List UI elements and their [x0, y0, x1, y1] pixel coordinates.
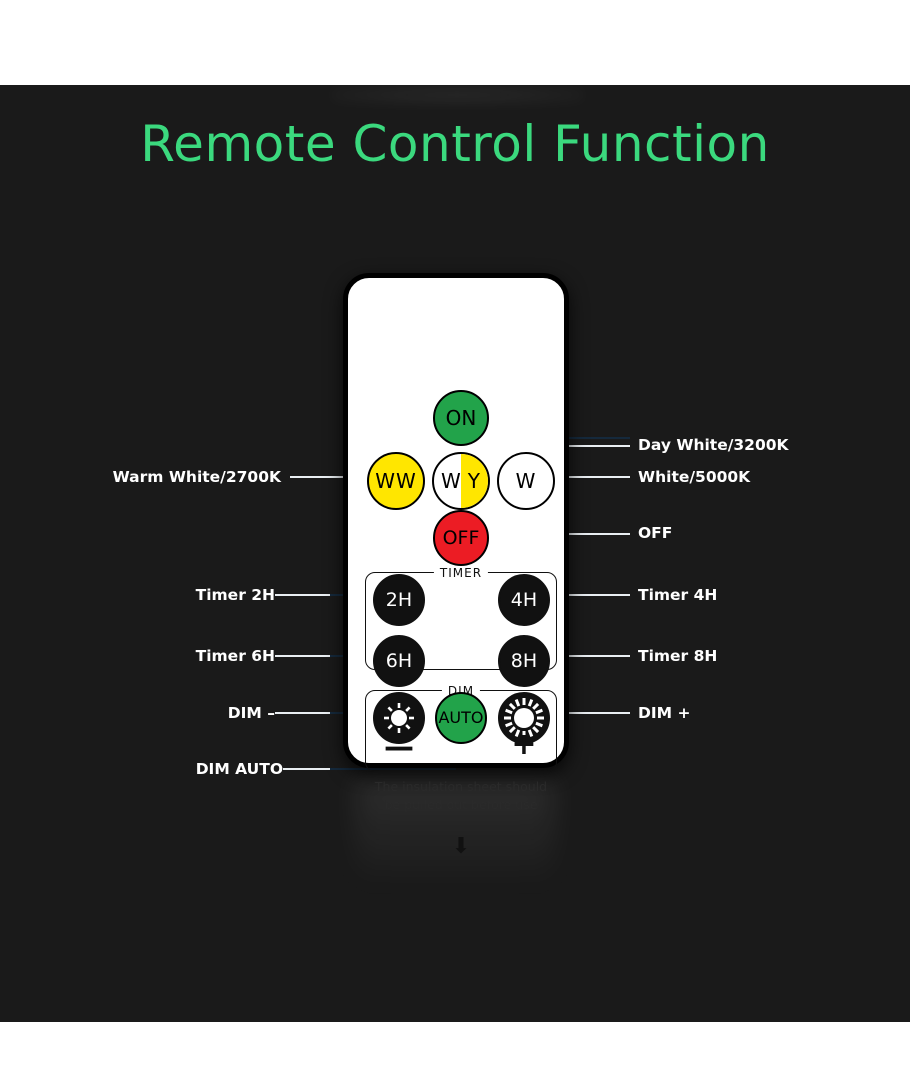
callout-dim-auto: DIM AUTO: [196, 760, 283, 778]
page-root: Remote Control Function: [0, 0, 910, 1080]
callout-off: OFF: [638, 524, 672, 542]
leader-stub-dimauto: [283, 768, 330, 770]
insulation-note-line1: The insulation sheet should: [348, 778, 574, 796]
button-timer-2h[interactable]: 2H: [373, 574, 425, 626]
leader-stub-timer2h: [275, 594, 330, 596]
dim-plus-sign: +: [511, 730, 536, 760]
down-arrow-icon: ⬇: [452, 835, 470, 857]
callout-timer-4h: Timer 4H: [638, 586, 717, 604]
button-white-label: W: [516, 471, 537, 491]
button-off[interactable]: OFF: [433, 510, 489, 566]
remote-control-body: ON WW W Y W OFF TIMER 2H 4H 6H: [343, 273, 569, 768]
button-dim-auto[interactable]: AUTO: [435, 692, 487, 744]
timer-group-label: TIMER: [434, 566, 488, 580]
page-title: Remote Control Function: [0, 115, 910, 173]
top-glow: [330, 85, 585, 105]
button-on-label: ON: [446, 408, 477, 428]
button-warm-white-label: WW: [375, 471, 417, 491]
leader-stub-white: [565, 476, 630, 478]
button-timer-4h-label: 4H: [511, 591, 537, 610]
button-timer-2h-label: 2H: [386, 591, 412, 610]
leader-stub-timer6h: [275, 655, 330, 657]
callout-timer-6h: Timer 6H: [196, 647, 275, 665]
button-day-white-label-right: Y: [468, 471, 481, 491]
button-day-white-label-left: W: [441, 471, 462, 491]
callout-dim-minus: DIM –: [228, 704, 275, 722]
button-day-white[interactable]: W Y: [432, 452, 490, 510]
leader-stub-dimplus: [565, 712, 630, 714]
leader-stub-dimminus: [275, 712, 330, 714]
leader-stub-timer8h: [565, 655, 630, 657]
insulation-note-line2: be pulled out before use: [348, 796, 574, 814]
leader-stub-day-white: [565, 445, 630, 447]
button-timer-6h-label: 6H: [386, 652, 412, 671]
button-warm-white[interactable]: WW: [367, 452, 425, 510]
button-white[interactable]: W: [497, 452, 555, 510]
callout-white: White/5000K: [638, 468, 750, 486]
callout-dim-plus: DIM +: [638, 704, 690, 722]
button-timer-8h[interactable]: 8H: [498, 635, 550, 687]
callout-warm-white: Warm White/2700K: [113, 468, 281, 486]
button-on[interactable]: ON: [433, 390, 489, 446]
button-timer-6h[interactable]: 6H: [373, 635, 425, 687]
callout-timer-2h: Timer 2H: [196, 586, 275, 604]
leader-stub-off: [565, 533, 630, 535]
callout-day-white: Day White/3200K: [638, 436, 789, 454]
button-off-label: OFF: [443, 529, 480, 548]
callout-timer-8h: Timer 8H: [638, 647, 717, 665]
insulation-note: The insulation sheet should be pulled ou…: [348, 778, 574, 814]
button-timer-8h-label: 8H: [511, 652, 537, 671]
button-dim-auto-label: AUTO: [438, 710, 483, 726]
dim-minus-sign: —: [384, 733, 414, 763]
leader-stub-timer4h: [565, 594, 630, 596]
button-timer-4h[interactable]: 4H: [498, 574, 550, 626]
